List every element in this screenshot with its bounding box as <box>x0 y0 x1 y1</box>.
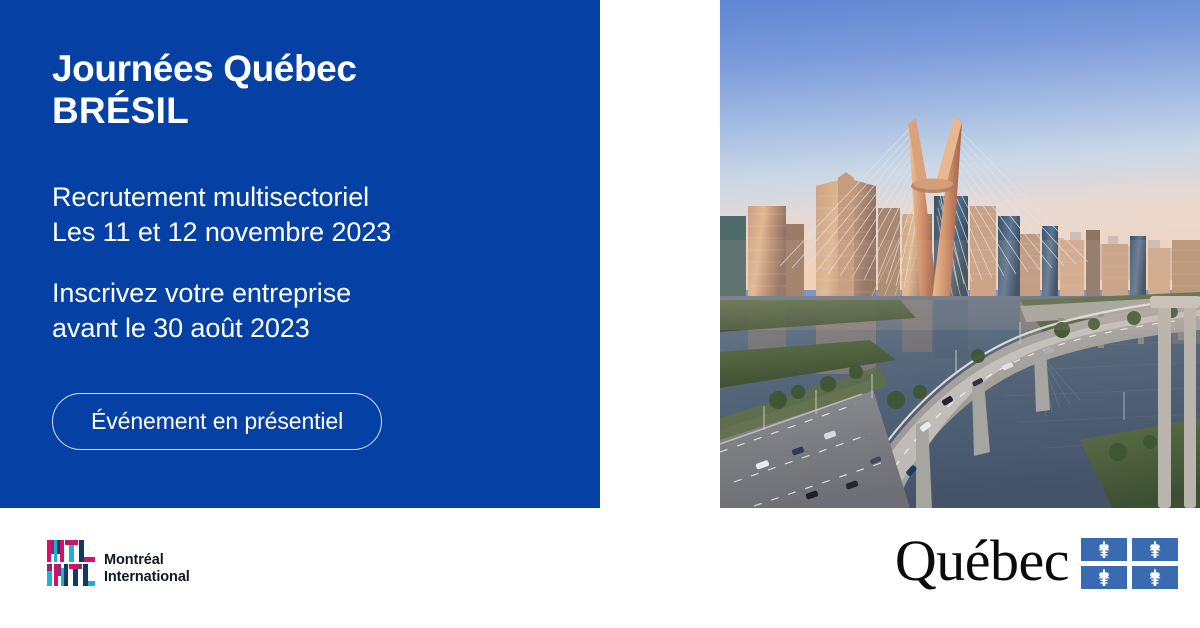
title-line-2: BRÉSIL <box>52 90 572 132</box>
montreal-international-wordmark: Montréal International <box>104 540 190 586</box>
panel-inner: Journées Québec BRÉSIL Recrutement multi… <box>52 0 572 508</box>
fleur-de-lis-square-4 <box>1132 566 1178 589</box>
montreal-international-logo[interactable]: Montréal International <box>47 538 190 588</box>
fleur-de-lis-square-1 <box>1081 538 1127 561</box>
paragraph1-line1: Recrutement multisectoriel <box>52 180 572 215</box>
paragraph-registration: Inscrivez votre entreprise avant le 30 a… <box>52 276 572 346</box>
fleur-de-lis-icon <box>1147 568 1164 586</box>
mtl-word-line-2: International <box>104 569 190 586</box>
mtl-intl-mark-icon <box>47 538 95 588</box>
body-text: Recrutement multisectoriel Les 11 et 12 … <box>52 180 572 346</box>
gouvernement-quebec-logo[interactable]: Québec <box>895 532 1178 594</box>
sao-paulo-bridge-photo <box>720 0 1200 508</box>
mtl-word-line-1: Montréal <box>104 552 190 569</box>
quebec-flag-emblem <box>1081 538 1178 589</box>
photo-artwork <box>720 0 1200 508</box>
paragraph2-line2: avant le 30 août 2023 <box>52 311 572 346</box>
fleur-de-lis-icon <box>1147 540 1164 558</box>
paragraph-recruitment: Recrutement multisectoriel Les 11 et 12 … <box>52 180 572 250</box>
fleur-de-lis-square-2 <box>1132 538 1178 561</box>
in-person-event-button[interactable]: Événement en présentiel <box>52 393 382 450</box>
page-title: Journées Québec BRÉSIL <box>52 48 572 132</box>
paragraph2-line1: Inscrivez votre entreprise <box>52 276 572 311</box>
quebec-wordmark: Québec <box>895 532 1069 594</box>
paragraph1-line2: Les 11 et 12 novembre 2023 <box>52 215 572 250</box>
fleur-de-lis-icon <box>1096 540 1113 558</box>
title-line-1: Journées Québec <box>52 48 572 90</box>
fleur-de-lis-icon <box>1096 568 1113 586</box>
blue-content-panel: Journées Québec BRÉSIL Recrutement multi… <box>0 0 600 508</box>
promotional-banner: Journées Québec BRÉSIL Recrutement multi… <box>0 0 1200 628</box>
fleur-de-lis-square-3 <box>1081 566 1127 589</box>
